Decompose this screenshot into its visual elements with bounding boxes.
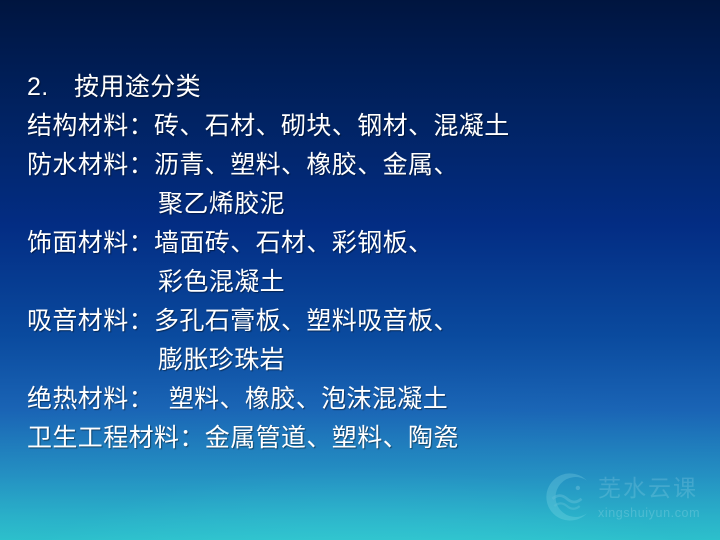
slide-body-text: 2. 按用途分类 结构材料：砖、石材、砌块、钢材、混凝土 防水材料：沥青、塑料、… bbox=[0, 68, 720, 458]
content-line-5: 饰面材料：墙面砖、石材、彩钢板、 bbox=[0, 224, 720, 263]
watermark-url: xingshuiyun.com bbox=[598, 506, 700, 520]
wave-circle-logo-icon bbox=[538, 468, 596, 526]
content-line-1: 2. 按用途分类 bbox=[0, 68, 720, 107]
content-line-8: 膨胀珍珠岩 bbox=[0, 341, 720, 380]
content-line-10: 卫生工程材料：金属管道、塑料、陶瓷 bbox=[0, 419, 720, 458]
content-line-3: 防水材料：沥青、塑料、橡胶、金属、 bbox=[0, 146, 720, 185]
slide-canvas: 2. 按用途分类 结构材料：砖、石材、砌块、钢材、混凝土 防水材料：沥青、塑料、… bbox=[0, 0, 720, 540]
content-line-7: 吸音材料：多孔石膏板、塑料吸音板、 bbox=[0, 302, 720, 341]
watermark: 芜水云课 xingshuiyun.com bbox=[536, 462, 712, 538]
content-line-2: 结构材料：砖、石材、砌块、钢材、混凝土 bbox=[0, 107, 720, 146]
content-line-9: 绝热材料： 塑料、橡胶、泡沫混凝土 bbox=[0, 380, 720, 419]
content-line-6: 彩色混凝土 bbox=[0, 263, 720, 302]
watermark-brand: 芜水云课 bbox=[598, 474, 698, 502]
content-line-4: 聚乙烯胶泥 bbox=[0, 185, 720, 224]
